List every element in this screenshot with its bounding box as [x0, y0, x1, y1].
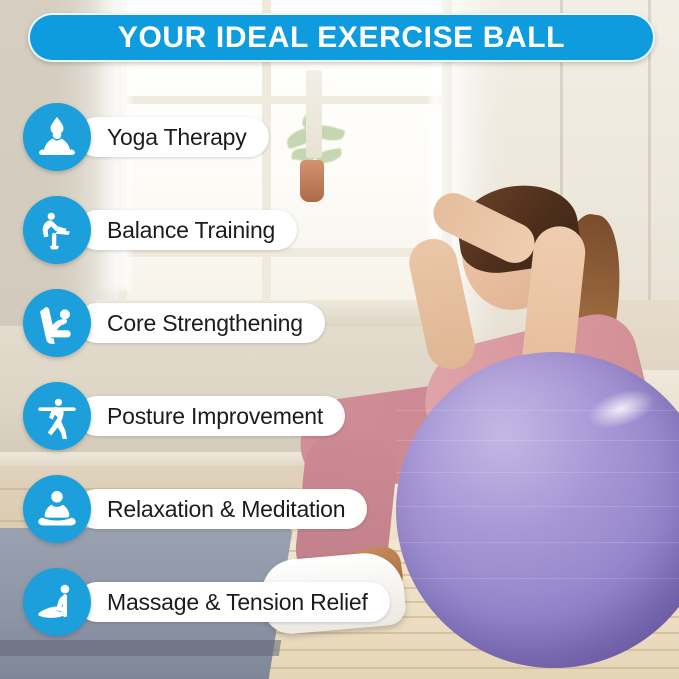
- feature-label: Posture Improvement: [107, 403, 323, 430]
- feature-pill: Balance Training: [77, 210, 297, 250]
- feature-pill: Core Strengthening: [77, 303, 325, 343]
- feature-row-massage-tension-relief[interactable]: Massage & Tension Relief: [23, 568, 390, 636]
- feature-label: Balance Training: [107, 217, 275, 244]
- feature-row-balance-training[interactable]: Balance Training: [23, 196, 297, 264]
- feature-label: Relaxation & Meditation: [107, 496, 345, 523]
- balance-standing-pose-icon: [23, 196, 91, 264]
- feature-label: Yoga Therapy: [107, 124, 247, 151]
- feature-pill: Massage & Tension Relief: [77, 582, 390, 622]
- massage-therapy-icon: [23, 568, 91, 636]
- feature-pill: Relaxation & Meditation: [77, 489, 367, 529]
- yoga-lotus-arms-up-icon: [23, 103, 91, 171]
- warrior-posture-icon: [23, 382, 91, 450]
- feature-row-yoga-therapy[interactable]: Yoga Therapy: [23, 103, 269, 171]
- feature-row-relaxation-meditation[interactable]: Relaxation & Meditation: [23, 475, 367, 543]
- meditation-lotus-icon: [23, 475, 91, 543]
- feature-pill: Yoga Therapy: [77, 117, 269, 157]
- feature-row-posture-improvement[interactable]: Posture Improvement: [23, 382, 345, 450]
- feature-label: Massage & Tension Relief: [107, 589, 368, 616]
- feature-list: Yoga Therapy Balance Training: [0, 0, 679, 679]
- core-crunch-icon: [23, 289, 91, 357]
- infographic-canvas: YOUR IDEAL EXERCISE BALL Yoga Therapy: [0, 0, 679, 679]
- feature-label: Core Strengthening: [107, 310, 303, 337]
- feature-pill: Posture Improvement: [77, 396, 345, 436]
- feature-row-core-strengthening[interactable]: Core Strengthening: [23, 289, 325, 357]
